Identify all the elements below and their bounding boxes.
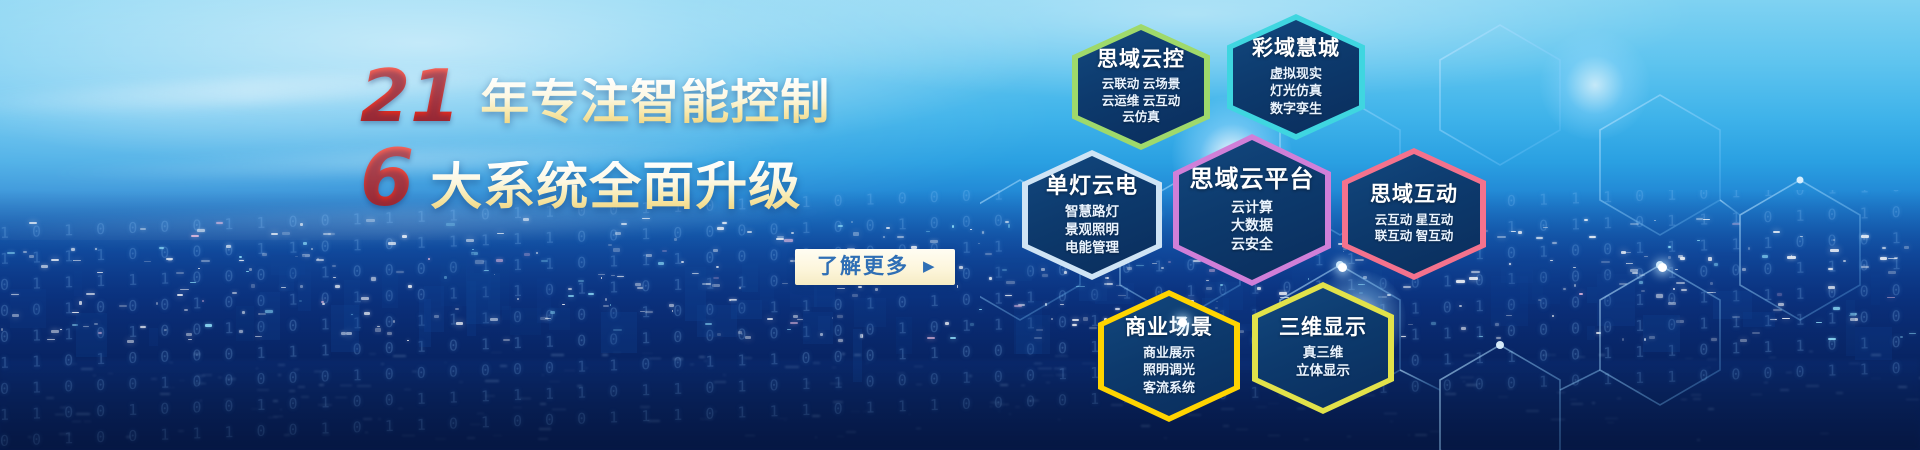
hex-card-siyu-cloud-control[interactable]: 思域云控 云联动 云场景 云运维 云互动 云仿真: [1072, 24, 1210, 150]
hex-sub-line: 联互动 智互动: [1375, 228, 1453, 245]
hex-card-three-d-display[interactable]: 三维显示 真三维 立体显示: [1252, 282, 1394, 414]
arrow-right-icon: ▶: [923, 259, 935, 274]
hex-title: 商业场景: [1125, 316, 1213, 339]
headline-text-2: 大系统全面升级: [430, 161, 801, 213]
hex-subtitle: 云互动 星互动 联互动 智互动: [1375, 212, 1453, 245]
headline-line-2: 6 大系统全面升级: [360, 142, 920, 216]
hex-sub-line: 云安全: [1231, 235, 1273, 253]
hex-card-siyu-cloud-platform[interactable]: 思域云平台 云计算 大数据 云安全: [1173, 134, 1331, 286]
hex-sub-line: 照明调光: [1143, 361, 1195, 378]
hex-sub-line: 电能管理: [1065, 239, 1119, 257]
headline-number-6: 6: [360, 142, 418, 216]
learn-more-label: 了解更多: [817, 256, 909, 277]
hex-sub-line: 灯光仿真: [1270, 82, 1322, 99]
hex-title: 思域互动: [1370, 183, 1458, 206]
hex-sub-line: 云互动 星互动: [1375, 212, 1453, 229]
hex-sub-line: 商业展示: [1143, 344, 1195, 361]
headline-line-1: 21 年专注智能控制: [360, 62, 920, 130]
hexagon-cluster: 思域云控 云联动 云场景 云运维 云互动 云仿真 彩域慧城 虚拟现实 灯光仿真 …: [980, 0, 1920, 450]
hex-title: 三维显示: [1279, 316, 1367, 339]
hex-title: 单灯云电: [1046, 174, 1138, 198]
hex-sub-line: 虚拟现实: [1270, 65, 1322, 82]
hex-title: 思域云控: [1097, 48, 1185, 71]
hex-subtitle: 智慧路灯 景观照明 电能管理: [1065, 203, 1119, 256]
hex-subtitle: 云计算 大数据 云安全: [1231, 198, 1273, 253]
hex-title: 思域云平台: [1190, 167, 1315, 193]
hex-card-caiyu-smart-city[interactable]: 彩域慧城 虚拟现实 灯光仿真 数字孪生: [1227, 14, 1365, 140]
network-node: [1658, 263, 1667, 272]
headline-block: 21 年专注智能控制 6 大系统全面升级: [360, 62, 920, 216]
hex-title: 彩域慧城: [1252, 37, 1340, 60]
hex-sub-line: 景观照明: [1065, 221, 1119, 239]
hex-sub-line: 云联动 云场景: [1102, 76, 1180, 93]
hex-card-siyu-interactive[interactable]: 思域互动 云互动 星互动 联互动 智互动: [1342, 148, 1486, 280]
hex-sub-line: 客流系统: [1143, 379, 1195, 396]
hex-subtitle: 云联动 云场景 云运维 云互动 云仿真: [1102, 76, 1180, 126]
hex-card-commercial-scene[interactable]: 商业场景 商业展示 照明调光 客流系统: [1098, 290, 1240, 422]
hex-sub-line: 真三维: [1296, 344, 1350, 362]
hex-subtitle: 商业展示 照明调光 客流系统: [1143, 344, 1195, 395]
network-node: [1338, 263, 1347, 272]
hex-subtitle: 真三维 立体显示: [1296, 344, 1350, 380]
hex-sub-line: 云仿真: [1102, 109, 1180, 126]
hex-subtitle: 虚拟现实 灯光仿真 数字孪生: [1270, 65, 1322, 116]
hex-sub-line: 云计算: [1231, 198, 1273, 216]
learn-more-button[interactable]: 了解更多 ▶: [795, 249, 955, 285]
headline-number-21: 21: [360, 62, 464, 130]
promo-banner: 1 0 1 0 0 0 0 1 1 0 0 1 1 1 1 0 1 1 0 0 …: [0, 0, 1920, 450]
hex-sub-line: 云运维 云互动: [1102, 93, 1180, 110]
network-node: [1178, 318, 1187, 327]
headline-text-1: 年专注智能控制: [480, 78, 830, 127]
hex-sub-line: 立体显示: [1296, 362, 1350, 380]
hex-sub-line: 智慧路灯: [1065, 203, 1119, 221]
hex-sub-line: 数字孪生: [1270, 100, 1322, 117]
hex-card-single-lamp-cloud-power[interactable]: 单灯云电 智慧路灯 景观照明 电能管理: [1022, 150, 1162, 280]
hex-sub-line: 大数据: [1231, 216, 1273, 234]
glow-orb-3: [1540, 30, 1650, 140]
